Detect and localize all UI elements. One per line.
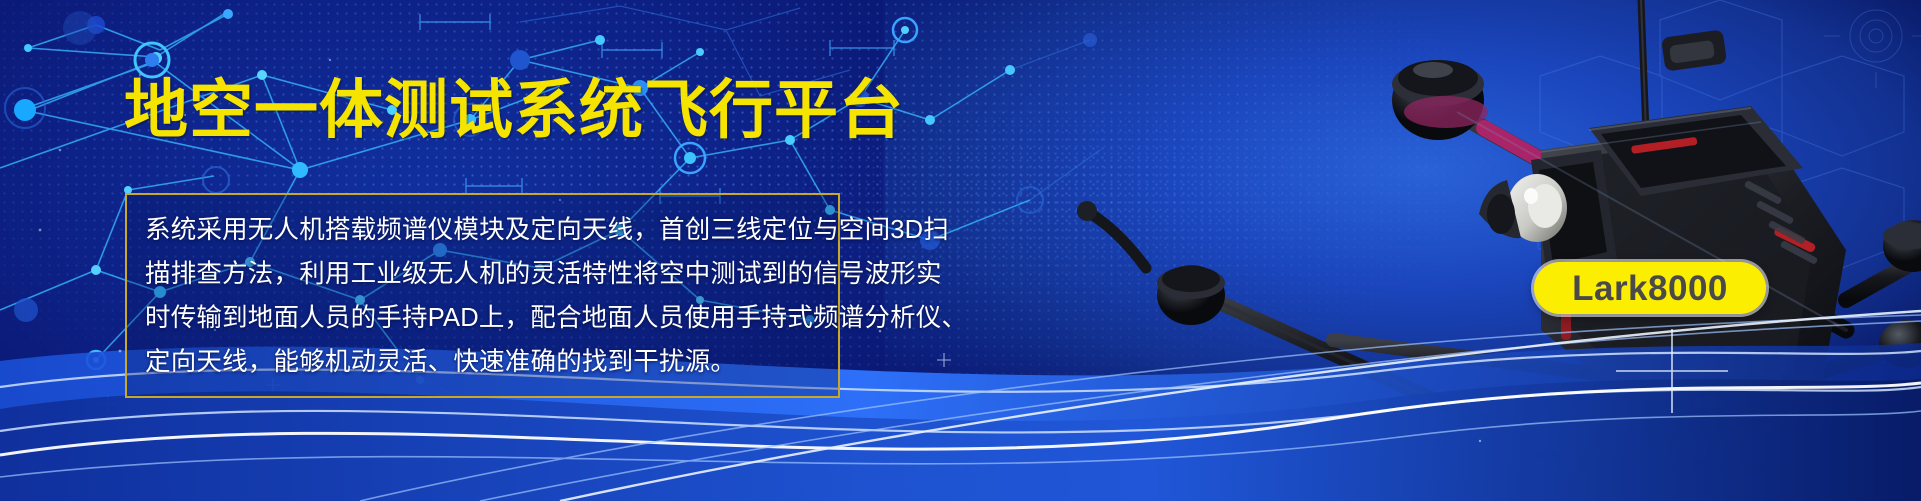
description-box: 系统采用无人机搭载频谱仪模块及定向天线，首创三线定位与空间3D扫 描排查方法，利… (125, 193, 840, 398)
product-banner: 地空一体测试系统飞行平台 系统采用无人机搭载频谱仪模块及定向天线，首创三线定位与… (0, 0, 1921, 501)
description-line: 描排查方法，利用工业级无人机的灵活特性将空中测试到的信号波形实 (145, 252, 818, 296)
product-model-badge: Lark8000 (1534, 262, 1766, 314)
description-line: 时传输到地面人员的手持PAD上，配合地面人员使用手持式频谱分析仪、 (145, 296, 818, 340)
product-model-label: Lark8000 (1572, 271, 1728, 306)
page-title: 地空一体测试系统飞行平台 (124, 78, 904, 143)
description-line: 系统采用无人机搭载频谱仪模块及定向天线，首创三线定位与空间3D扫 (145, 208, 818, 252)
description-line: 定向天线，能够机动灵活、快速准确的找到干扰源。 (145, 340, 818, 384)
